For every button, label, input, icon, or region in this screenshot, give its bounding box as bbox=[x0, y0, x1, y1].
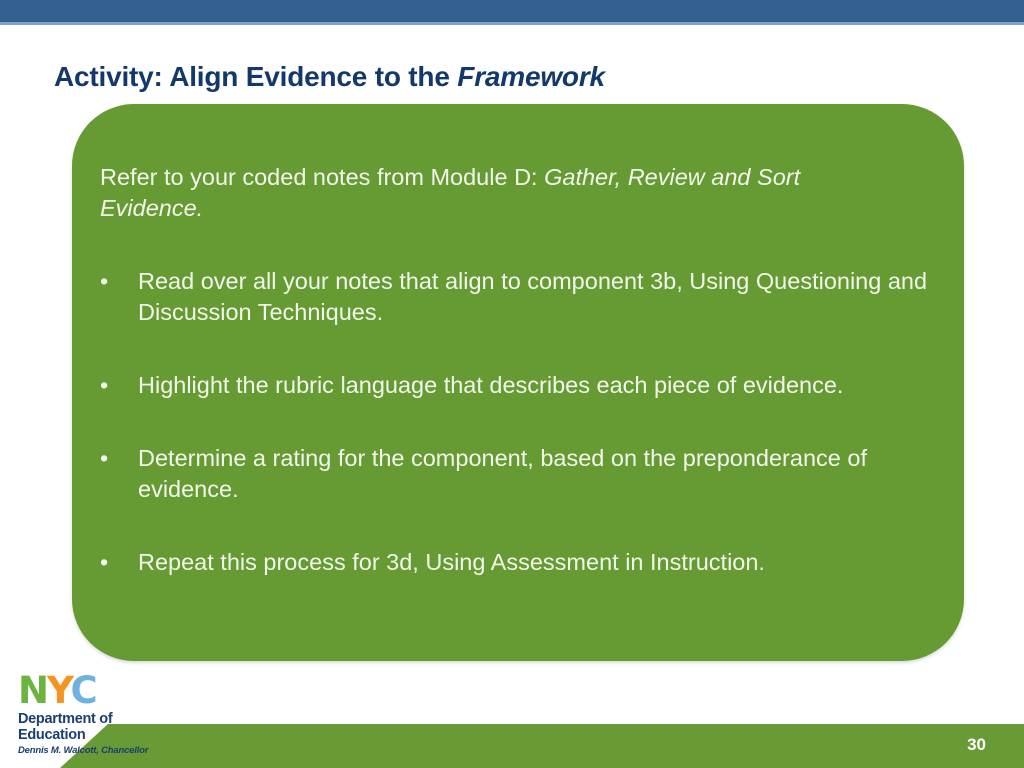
logo-department-line-1: Department of bbox=[18, 711, 148, 727]
logo-letter-c: C bbox=[70, 669, 95, 712]
content-panel-inner: Refer to your coded notes from Module D:… bbox=[100, 162, 934, 578]
nyc-wordmark-icon: NYC bbox=[18, 672, 148, 710]
list-item-text: Determine a rating for the component, ba… bbox=[138, 445, 867, 502]
bullet-dot-icon: • bbox=[100, 370, 108, 401]
footer-band bbox=[0, 724, 1024, 768]
logo-chancellor-name: Dennis M. Walcott, Chancellor bbox=[18, 745, 148, 756]
intro-paragraph-roman: Refer to your coded notes from Module D: bbox=[100, 164, 544, 190]
list-item: • Repeat this process for 3d, Using Asse… bbox=[100, 547, 938, 578]
logo-letter-n: N bbox=[18, 669, 47, 712]
page-title-emphasis: Framework bbox=[457, 61, 605, 92]
intro-paragraph: Refer to your coded notes from Module D:… bbox=[100, 162, 900, 224]
bullet-dot-icon: • bbox=[100, 266, 108, 297]
page-title: Activity: Align Evidence to the Framewor… bbox=[54, 61, 954, 93]
header-accent-bar bbox=[0, 0, 1024, 22]
bullet-dot-icon: • bbox=[100, 443, 108, 474]
list-item: • Determine a rating for the component, … bbox=[100, 443, 938, 505]
list-item-text: Repeat this process for 3d, Using Assess… bbox=[138, 549, 765, 575]
instruction-list: • Read over all your notes that align to… bbox=[100, 266, 934, 578]
page-title-main: Activity: Align Evidence to the bbox=[54, 61, 457, 92]
content-panel: Refer to your coded notes from Module D:… bbox=[72, 104, 964, 661]
logo-letter-y: Y bbox=[47, 669, 70, 712]
list-item-text: Read over all your notes that align to c… bbox=[138, 268, 927, 325]
page-number: 30 bbox=[967, 735, 986, 755]
logo-department-line-2: Education bbox=[18, 727, 148, 743]
list-item: • Read over all your notes that align to… bbox=[100, 266, 938, 328]
list-item: • Highlight the rubric language that des… bbox=[100, 370, 938, 401]
list-item-text: Highlight the rubric language that descr… bbox=[138, 372, 843, 398]
nyc-doe-logo: NYC Department of Education Dennis M. Wa… bbox=[18, 672, 148, 756]
bullet-dot-icon: • bbox=[100, 547, 108, 578]
logo-department-name: Department of Education bbox=[18, 711, 148, 743]
header-accent-underline bbox=[0, 22, 1024, 25]
